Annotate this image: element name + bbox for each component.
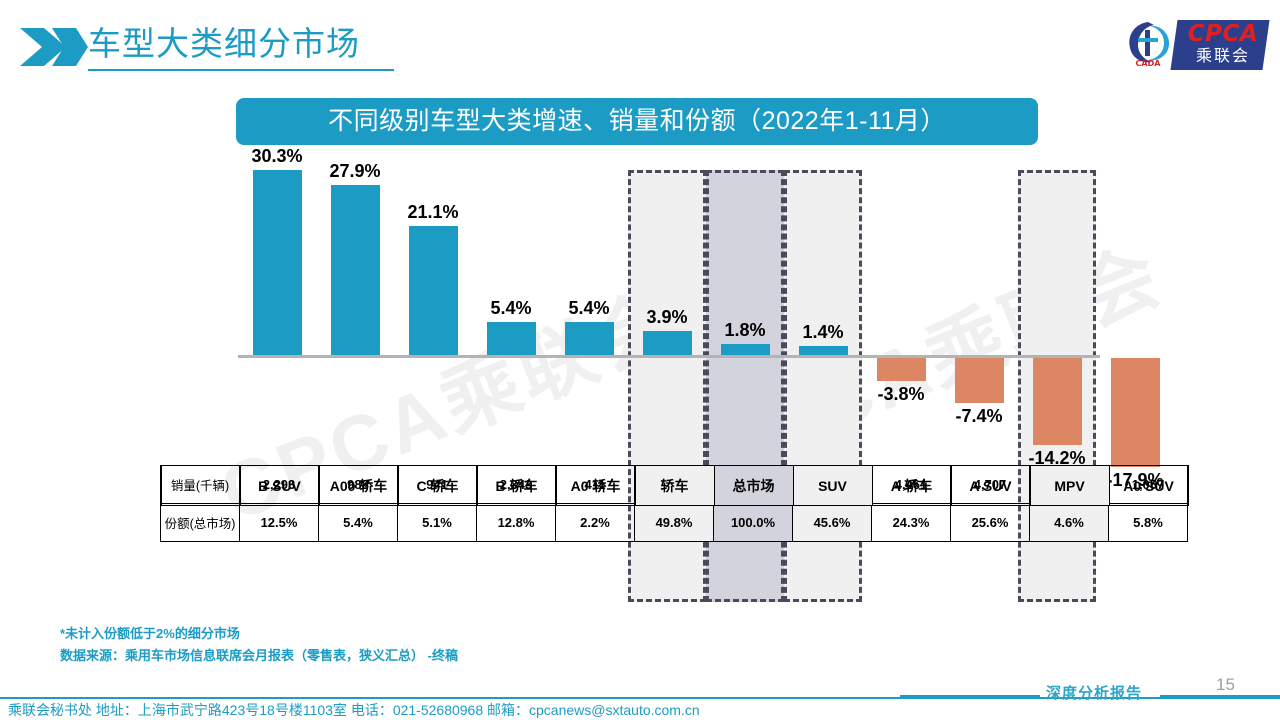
table-column-header: A0 SUV: [1109, 466, 1188, 506]
table-column-header: A 轿车: [872, 466, 951, 506]
footer-contact: 乘联会秘书处 地址：上海市武宁路423号18号楼1103室 电话：021-526…: [8, 701, 700, 720]
bar: [643, 331, 692, 355]
bar-value-label: -3.8%: [855, 384, 947, 405]
slide-root: 车型大类细分市场 CPCA 乘联会 CADA 不同级别车型大类增速、销量和份额（…: [0, 0, 1280, 720]
title-underline: [88, 69, 394, 71]
bar: [409, 226, 458, 355]
bar: [955, 358, 1004, 403]
table-body: B SUVA00 轿车C 轿车B 轿车A0 轿车轿车总市场SUVA 轿车A SU…: [161, 465, 1188, 542]
logo-sub: CADA: [1126, 58, 1170, 70]
table-column-header: MPV: [1030, 466, 1109, 506]
table-column-header: 总市场: [714, 466, 793, 506]
footnotes: *未计入份额低于2%的细分市场 数据来源：乘用车市场信息联席会月报表（零售表，狭…: [60, 623, 458, 667]
table-corner-cell: [161, 466, 240, 506]
footnote-line-2: 数据来源：乘用车市场信息联席会月报表（零售表，狭义汇总） -终稿: [60, 645, 458, 667]
bar: [1111, 358, 1160, 467]
table-column-header: A00 轿车: [319, 466, 398, 506]
footer-line-right: [1160, 695, 1280, 697]
bar: [799, 346, 848, 355]
table-column-header: B 轿车: [477, 466, 556, 506]
table-column-header: B SUV: [240, 466, 319, 506]
table-column-header: A SUV: [951, 466, 1030, 506]
table-column-header: 轿车: [635, 466, 714, 506]
footer-report-label: 深度分析报告: [1046, 682, 1142, 703]
page-title: 车型大类细分市场: [88, 22, 360, 66]
bar-chart: 30.3%27.9%21.1%5.4%5.4%3.9%1.8%1.4%-3.8%…: [160, 160, 1100, 460]
data-table: B SUVA00 轿车C 轿车B 轿车A0 轿车轿车总市场SUVA 轿车A SU…: [160, 465, 1188, 542]
slide-header: 车型大类细分市场: [0, 0, 1280, 88]
table-column-header: SUV: [793, 466, 872, 506]
chart-title: 不同级别车型大类增速、销量和份额（2022年1-11月）: [236, 98, 1038, 145]
bar: [487, 322, 536, 355]
bar: [721, 344, 770, 355]
page-number: 15: [1216, 675, 1235, 695]
table-header-row: B SUVA00 轿车C 轿车B 轿车A0 轿车轿车总市场SUVA 轿车A SU…: [161, 465, 1280, 553]
bar: [331, 185, 380, 355]
double-chevron-right-icon: [18, 26, 90, 68]
bar: [877, 358, 926, 381]
bar-value-label: 27.9%: [309, 161, 401, 182]
cpca-logo: CPCA 乘联会 CADA: [1124, 14, 1266, 76]
bar: [565, 322, 614, 355]
footer-line-left: [900, 695, 1040, 697]
footnote-line-1: *未计入份额低于2%的细分市场: [60, 623, 458, 645]
table-column-header: C 轿车: [398, 466, 477, 506]
bar-value-label: 1.4%: [777, 322, 869, 343]
logo-brand-cn: 乘联会: [1180, 46, 1266, 68]
table-column-header: A0 轿车: [556, 466, 635, 506]
bar-value-label: -7.4%: [933, 406, 1025, 427]
bar-value-label: 21.1%: [387, 202, 479, 223]
bar: [1033, 358, 1082, 445]
bar: [253, 170, 302, 355]
logo-brand: CPCA: [1180, 20, 1266, 48]
